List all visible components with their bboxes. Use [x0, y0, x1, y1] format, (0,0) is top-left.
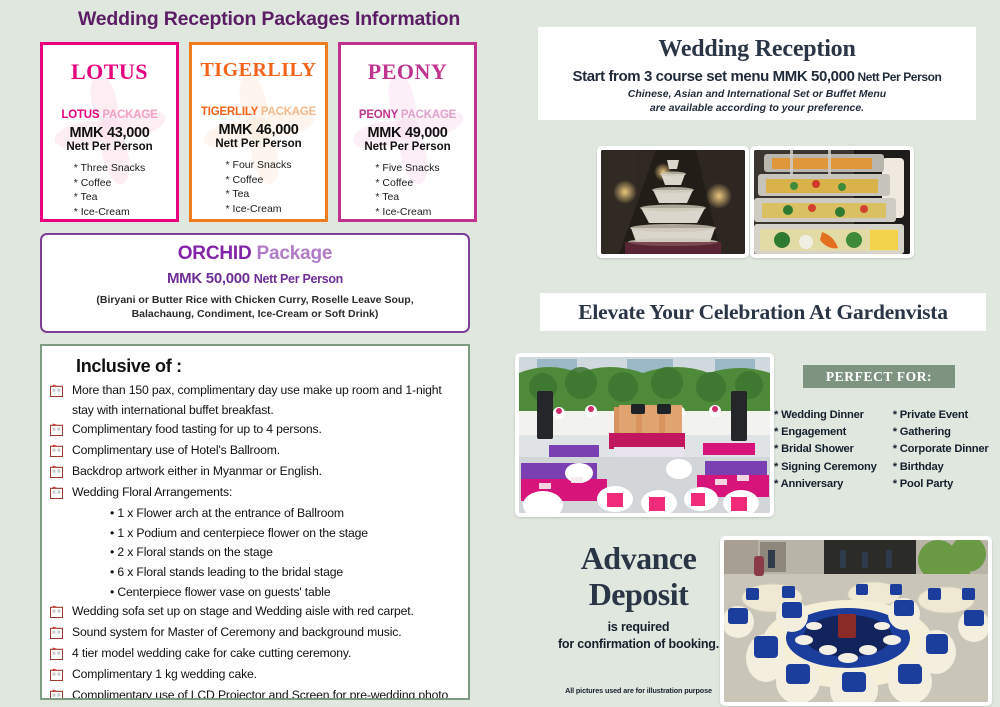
package-card-peony[interactable]: PEONY PEONY PACKAGE MMK 49,000 Nett Per … — [338, 42, 477, 222]
package-name-lotus: LOTUS — [43, 59, 176, 85]
list-item: Backdrop artwork either in Myanmar or En… — [50, 462, 458, 483]
wedding-reception-banner: Wedding Reception Start from 3 course se… — [538, 27, 976, 120]
list-item: Ice-Cream — [74, 205, 146, 220]
list-item: Wedding Floral Arrangements: — [50, 483, 458, 504]
package-items-lotus: Three Snacks Coffee Tea Ice-Cream — [74, 161, 146, 219]
package-price-peony: MMK 49,000 — [341, 125, 474, 141]
list-item: Wedding Dinner — [774, 407, 877, 424]
checklist-icon — [50, 420, 72, 441]
list-item: 1 x Podium and centerpiece flower on the… — [110, 524, 458, 544]
list-item: Wedding sofa set up on stage and Wedding… — [50, 602, 458, 623]
orchid-desc-line1: (Biryani or Butter Rice with Chicken Cur… — [52, 293, 458, 307]
package-items-tigerlily: Four Snacks Coffee Tea Ice-Cream — [226, 158, 292, 216]
elevate-banner: Elevate Your Celebration At Gardenvista — [540, 293, 986, 331]
brochure-page: Wedding Reception Packages Information L… — [0, 0, 1000, 707]
list-item: Birthday — [893, 459, 989, 476]
package-nett-peony: Nett Per Person — [341, 141, 474, 153]
inclusive-item-text: Complimentary 1 kg wedding cake. — [72, 665, 257, 685]
perfect-for-header: PERFECT FOR: — [803, 365, 955, 388]
champagne-tower-illustration — [601, 150, 745, 254]
package-subtitle-tigerlily: TIGERLILY PACKAGE — [192, 106, 325, 118]
advance-deposit-note: is required for confirmation of booking. — [536, 619, 741, 653]
buffet-trays-photo — [750, 146, 914, 258]
champagne-tower-photo — [597, 146, 749, 258]
package-subtitle-peony: PEONY PACKAGE — [341, 109, 474, 121]
package-name-tigerlily: TIGERLILY — [192, 59, 325, 82]
package-price-lotus: MMK 43,000 — [43, 125, 176, 141]
inclusive-item-text: Sound system for Master of Ceremony and … — [72, 623, 401, 643]
list-item: Complimentary 1 kg wedding cake. — [50, 665, 458, 686]
left-column: Wedding Reception Packages Information L… — [40, 8, 488, 700]
package-card-lotus[interactable]: LOTUS LOTUS PACKAGE MMK 43,000 Nett Per … — [40, 42, 179, 222]
inclusive-item-text: Complimentary use of Hotel's Ballroom. — [72, 441, 280, 461]
checklist-icon — [50, 623, 72, 644]
list-item: 1 x Flower arch at the entrance of Ballr… — [110, 504, 458, 524]
list-item: Centerpiece flower vase on guests' table — [110, 583, 458, 603]
list-item: 4 tier model wedding cake for cake cutti… — [50, 644, 458, 665]
perfect-for-column-left: Wedding Dinner Engagement Bridal Shower … — [774, 407, 877, 493]
list-item: Private Event — [893, 407, 989, 424]
checklist-icon — [50, 483, 72, 504]
reception-note-line2: are available according to your preferen… — [538, 102, 976, 116]
page-title: Wedding Reception Packages Information — [40, 8, 488, 31]
checklist-icon — [50, 462, 72, 483]
advance-deposit-heading: Advance Deposit — [536, 540, 741, 612]
garden-reception-photo — [515, 353, 774, 517]
list-item: Coffee — [226, 173, 292, 188]
package-name-peony: PEONY — [341, 59, 474, 85]
advance-sub-line1: is required — [536, 619, 741, 636]
perfect-for-list: Wedding Dinner Engagement Bridal Shower … — [774, 407, 1000, 493]
advance-title-line2: Deposit — [536, 576, 741, 612]
checklist-icon — [50, 441, 72, 462]
package-card-orchid[interactable]: ORCHID Package MMK 50,000 Nett Per Perso… — [40, 233, 470, 333]
banquet-tables-illustration — [724, 540, 988, 702]
list-item: Five Snacks — [375, 161, 439, 176]
advance-title-line1: Advance — [536, 540, 741, 576]
elevate-heading: Elevate Your Celebration At Gardenvista — [578, 300, 948, 325]
package-nett-tigerlily: Nett Per Person — [192, 138, 325, 150]
inclusive-item-text: Wedding Floral Arrangements: — [72, 483, 232, 503]
package-cards-row: LOTUS LOTUS PACKAGE MMK 43,000 Nett Per … — [40, 42, 488, 222]
perfect-for-column-right: Private Event Gathering Corporate Dinner… — [893, 407, 989, 493]
reception-heading: Wedding Reception — [538, 36, 976, 63]
inclusive-section: Inclusive of : More than 150 pax, compli… — [40, 344, 470, 700]
package-nett-lotus: Nett Per Person — [43, 141, 176, 153]
package-items-peony: Five Snacks Coffee Tea Ice-Cream — [375, 161, 439, 219]
package-subtitle-lotus: LOTUS PACKAGE — [43, 109, 176, 121]
orchid-desc-line2: Balachaung, Condiment, Ice-Cream or Soft… — [52, 307, 458, 321]
inclusive-item-text: Complimentary food tasting for up to 4 p… — [72, 420, 322, 440]
list-item: 2 x Floral stands on the stage — [110, 543, 458, 563]
list-item: Complimentary use of Hotel's Ballroom. — [50, 441, 458, 462]
checklist-icon — [50, 602, 72, 623]
package-card-tigerlily[interactable]: TIGERLILY TIGERLILY PACKAGE MMK 46,000 N… — [189, 42, 328, 222]
inclusive-item-text: Complimentary use of LCD Projector and S… — [72, 686, 458, 700]
reception-menu-note: Chinese, Asian and International Set or … — [538, 88, 976, 115]
list-item: Corporate Dinner — [893, 441, 989, 458]
inclusive-item-text: Backdrop artwork either in Myanmar or En… — [72, 462, 322, 482]
list-item: 6 x Floral stands leading to the bridal … — [110, 563, 458, 583]
buffet-trays-illustration — [754, 150, 910, 254]
inclusive-item-text: More than 150 pax, complimentary day use… — [72, 381, 458, 420]
reception-price-line: Start from 3 course set menu MMK 50,000 … — [538, 68, 976, 85]
advance-deposit-block: Advance Deposit is required for confirma… — [536, 540, 741, 653]
list-item: Bridal Shower — [774, 441, 877, 458]
inclusive-title: Inclusive of : — [76, 356, 458, 377]
banquet-tables-photo — [720, 536, 992, 706]
list-item: Ice-Cream — [375, 205, 439, 220]
list-item: Four Snacks — [226, 158, 292, 173]
inclusive-item-text: Wedding sofa set up on stage and Wedding… — [72, 602, 414, 622]
list-item: Three Snacks — [74, 161, 146, 176]
list-item: Tea — [226, 187, 292, 202]
orchid-title: ORCHID Package — [52, 243, 458, 265]
list-item: Gathering — [893, 424, 989, 441]
orchid-price: MMK 50,000 Nett Per Person — [52, 270, 458, 287]
list-item: Pool Party — [893, 476, 989, 493]
checklist-icon — [50, 381, 72, 402]
list-item: Tea — [74, 190, 146, 205]
advance-sub-line2: for confirmation of booking. — [536, 636, 741, 653]
list-item: Sound system for Master of Ceremony and … — [50, 623, 458, 644]
garden-reception-illustration — [519, 357, 770, 513]
floral-sub-list: 1 x Flower arch at the entrance of Ballr… — [110, 504, 458, 602]
list-item: Anniversary — [774, 476, 877, 493]
checklist-icon — [50, 665, 72, 686]
list-item: Coffee — [74, 176, 146, 191]
list-item: Complimentary food tasting for up to 4 p… — [50, 420, 458, 441]
reception-note-line1: Chinese, Asian and International Set or … — [538, 88, 976, 102]
footnote-text: All pictures used are for illustration p… — [536, 686, 741, 695]
list-item: Engagement — [774, 424, 877, 441]
list-item: More than 150 pax, complimentary day use… — [50, 381, 458, 420]
list-item: Tea — [375, 190, 439, 205]
inclusive-item-text: 4 tier model wedding cake for cake cutti… — [72, 644, 351, 664]
orchid-description: (Biryani or Butter Rice with Chicken Cur… — [52, 293, 458, 321]
checklist-icon — [50, 644, 72, 665]
checklist-icon — [50, 686, 72, 700]
package-price-tigerlily: MMK 46,000 — [192, 122, 325, 138]
list-item: Ice-Cream — [226, 202, 292, 217]
list-item: Complimentary use of LCD Projector and S… — [50, 686, 458, 700]
list-item: Signing Ceremony — [774, 459, 877, 476]
list-item: Coffee — [375, 176, 439, 191]
